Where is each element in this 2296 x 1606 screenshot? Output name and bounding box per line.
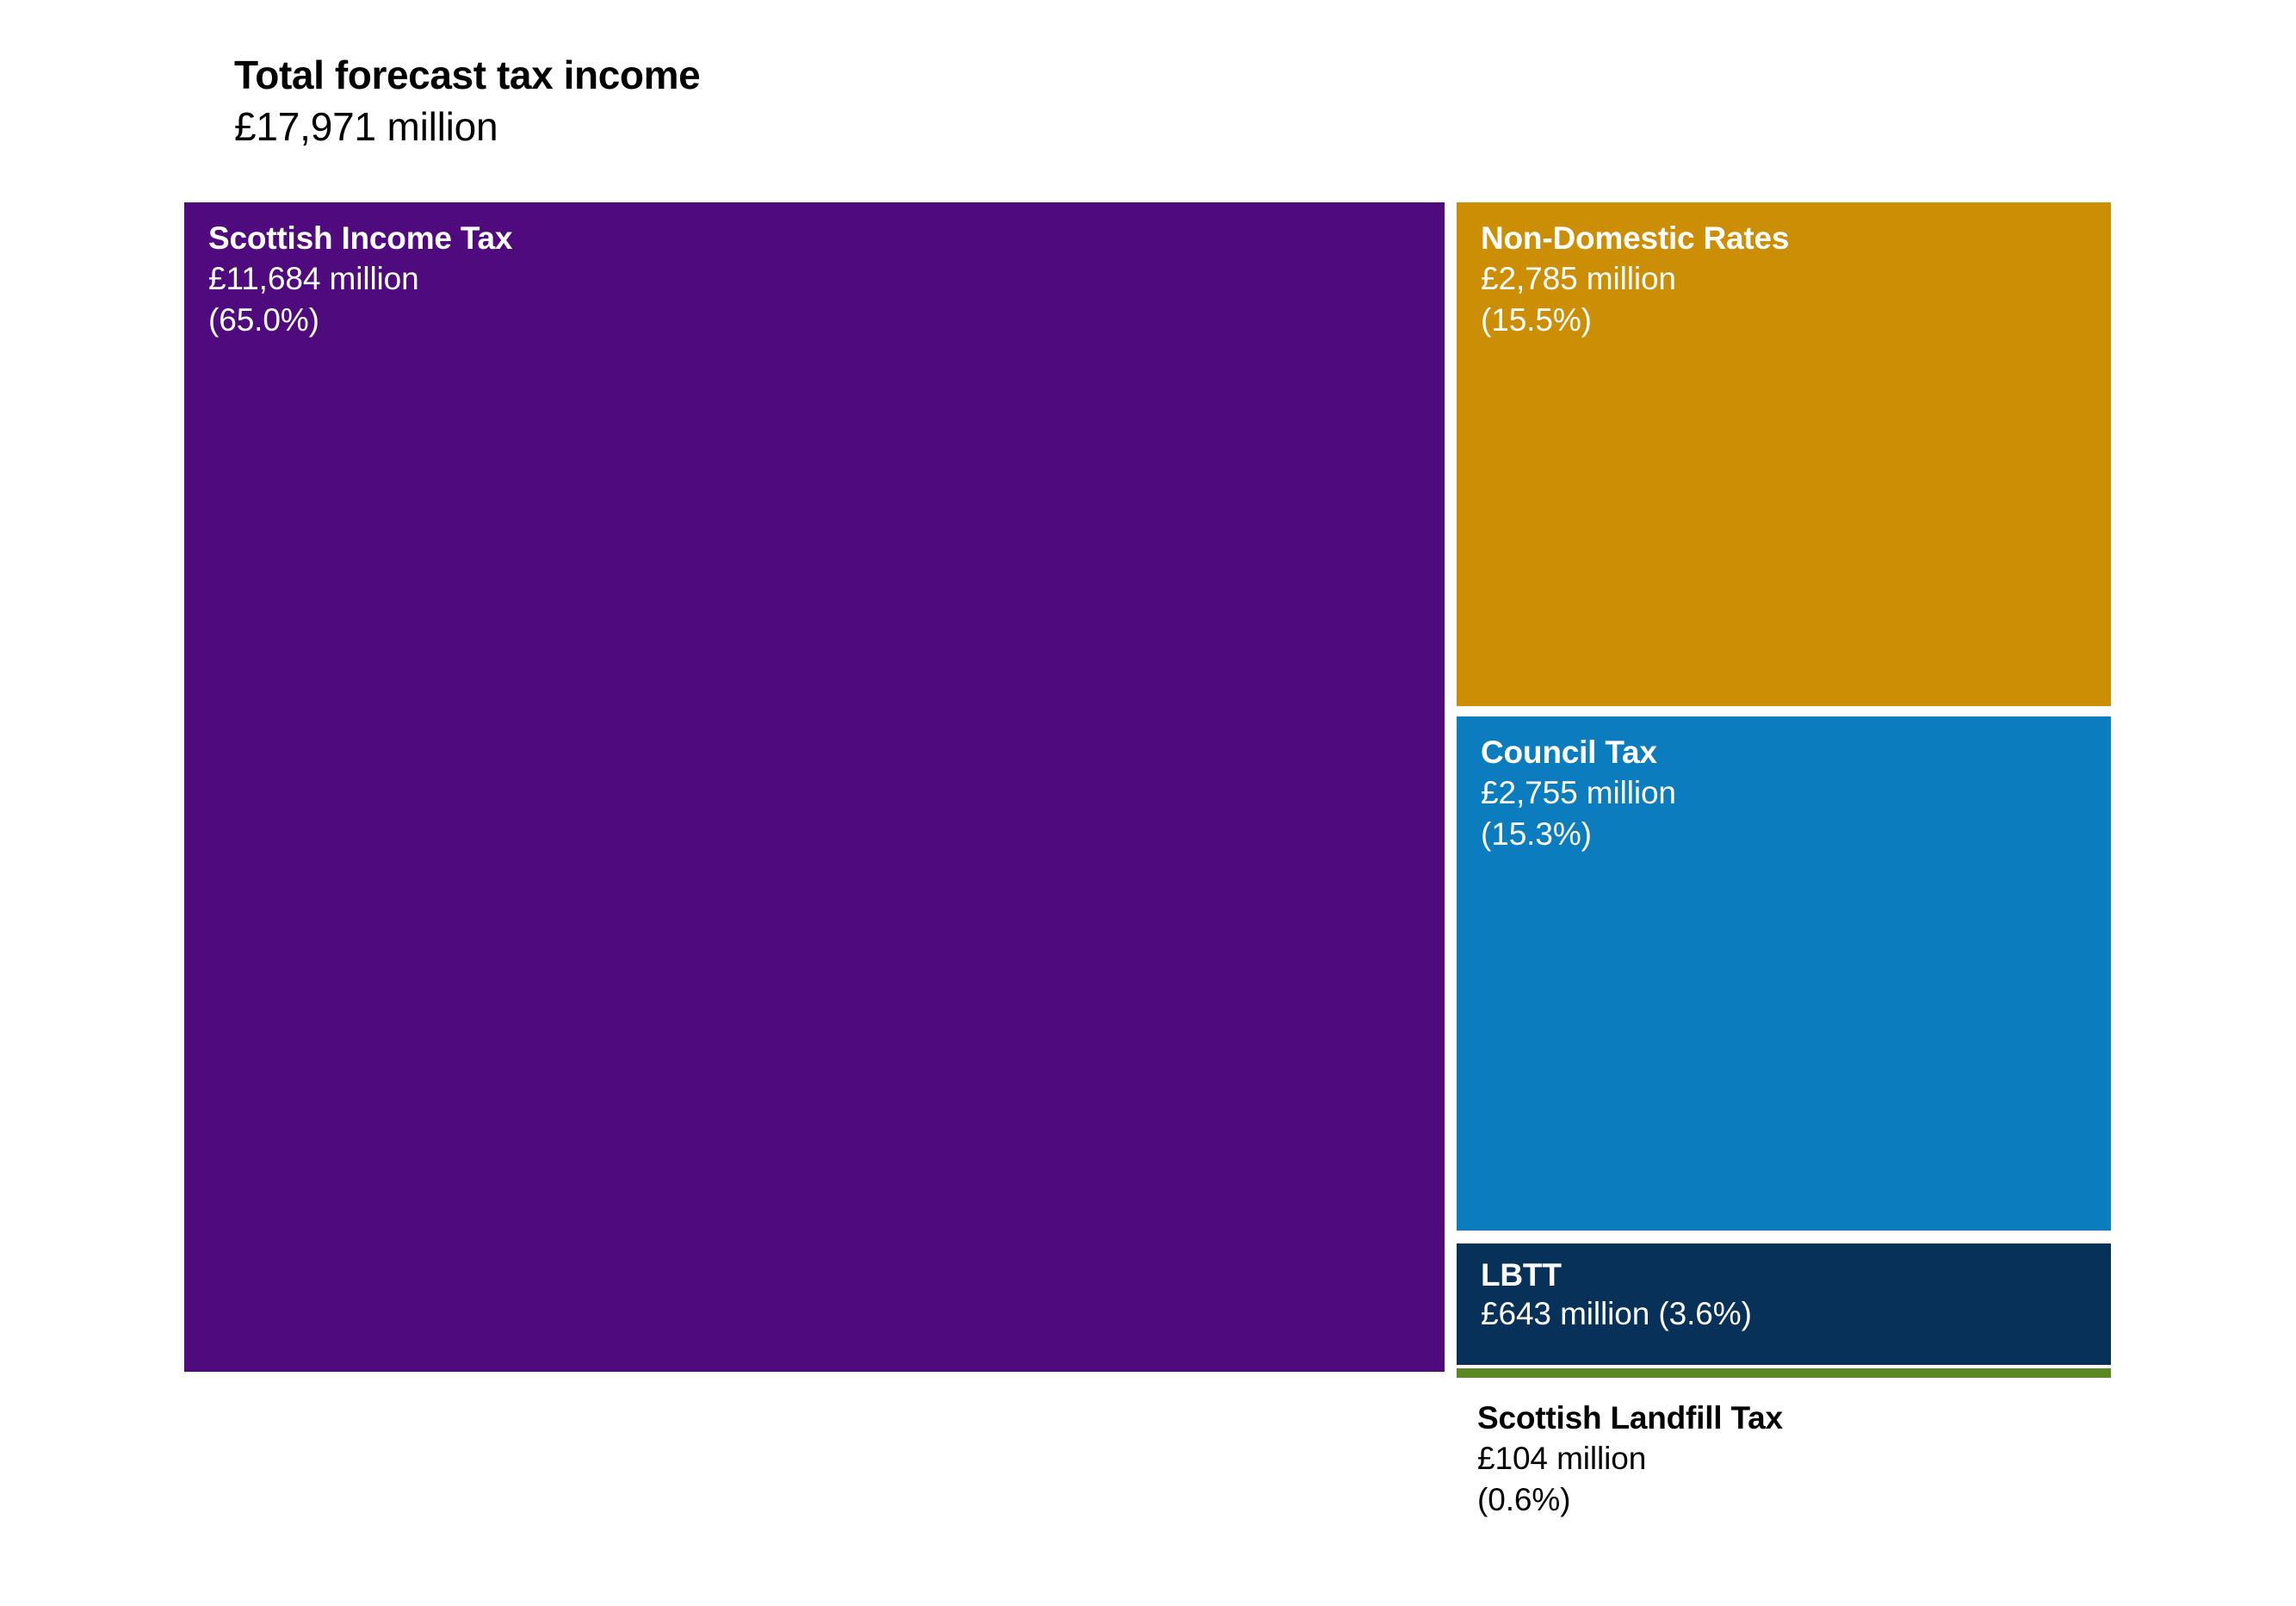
tile-text-group: Council Tax £2,755 million (15.3%) bbox=[1481, 732, 2102, 854]
tile-percentage: (65.0%) bbox=[208, 300, 1436, 340]
treemap-tile-scottish-income-tax[interactable]: Scottish Income Tax £11,684 million (65.… bbox=[184, 202, 1445, 1372]
tile-value: £2,755 million bbox=[1481, 772, 2102, 813]
tile-label: Scottish Income Tax bbox=[208, 218, 1436, 258]
tile-text-group: Scottish Income Tax £11,684 million (65.… bbox=[208, 218, 1436, 340]
treemap-tile-scottish-landfill-tax[interactable] bbox=[1457, 1368, 2111, 1378]
tile-label: Scottish Landfill Tax bbox=[1477, 1398, 2252, 1438]
treemap-tile-lbtt[interactable]: LBTT £643 million (3.6%) bbox=[1457, 1243, 2111, 1365]
tile-percentage: (0.6%) bbox=[1477, 1479, 2252, 1520]
treemap-external-label-scottish-landfill-tax: Scottish Landfill Tax £104 million (0.6%… bbox=[1477, 1398, 2252, 1520]
page-title: Total forecast tax income bbox=[234, 53, 1439, 98]
tile-label: Non-Domestic Rates bbox=[1481, 218, 2102, 258]
tile-value: £643 million (3.6%) bbox=[1481, 1294, 2102, 1333]
tile-text-group: LBTT £643 million (3.6%) bbox=[1481, 1256, 2102, 1333]
total-value-subtitle: £17,971 million bbox=[234, 103, 1439, 150]
figure-heading: Total forecast tax income £17,971 millio… bbox=[234, 53, 1439, 150]
treemap-plot-area: Scottish Income Tax £11,684 million (65.… bbox=[184, 202, 2111, 1372]
tile-label: Council Tax bbox=[1481, 732, 2102, 772]
treemap-figure: Total forecast tax income £17,971 millio… bbox=[0, 0, 2296, 1606]
treemap-tile-non-domestic-rates[interactable]: Non-Domestic Rates £2,785 million (15.5%… bbox=[1457, 202, 2111, 706]
tile-text-group: Non-Domestic Rates £2,785 million (15.5%… bbox=[1481, 218, 2102, 340]
tile-percentage: (15.3%) bbox=[1481, 814, 2102, 854]
tile-value: £104 million bbox=[1477, 1438, 2252, 1479]
tile-label: LBTT bbox=[1481, 1256, 2102, 1294]
tile-percentage: (15.5%) bbox=[1481, 300, 2102, 340]
tile-value: £2,785 million bbox=[1481, 258, 2102, 299]
tile-value: £11,684 million bbox=[208, 258, 1436, 299]
treemap-tile-council-tax[interactable]: Council Tax £2,755 million (15.3%) bbox=[1457, 716, 2111, 1231]
